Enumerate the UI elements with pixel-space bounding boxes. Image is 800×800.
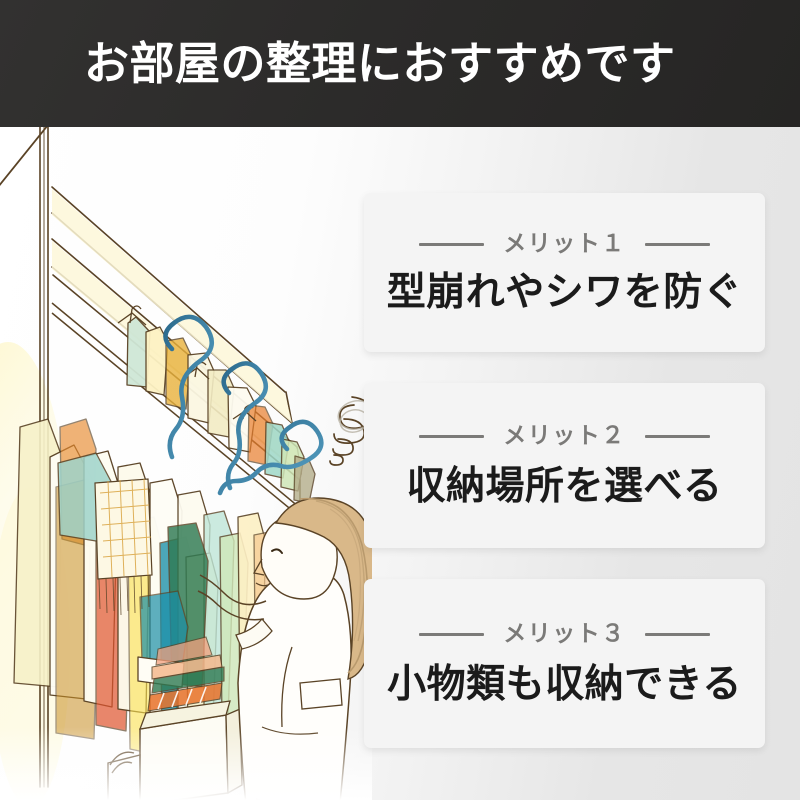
merit-card-list: メリット１ 型崩れやシワを防ぐ メリット２ 収納場所を選べる メリット３	[364, 193, 765, 748]
merit-text-1: 型崩れやシワを防ぐ	[387, 273, 743, 312]
promo-panel: お部屋の整理におすすめです	[0, 0, 800, 800]
merit-rule-right-icon	[645, 633, 710, 636]
merit-card-3[interactable]: メリット３ 小物類も収納できる	[364, 579, 765, 748]
merit-rule-right-icon	[645, 243, 710, 246]
merit-label-row-1: メリット１	[419, 233, 710, 256]
merit-text-2: 収納場所を選べる	[406, 467, 722, 506]
merit-label-2: メリット２	[503, 425, 626, 448]
page-title: お部屋の整理におすすめです	[84, 41, 676, 86]
merit-label-3: メリット３	[503, 623, 626, 646]
merit-label-1: メリット１	[503, 233, 626, 256]
merit-label-row-2: メリット２	[419, 425, 710, 448]
merit-rule-right-icon	[645, 435, 710, 438]
merit-label-row-3: メリット３	[419, 623, 710, 646]
closet-illustration	[0, 127, 372, 800]
merit-rule-left-icon	[419, 243, 484, 246]
header-bar: お部屋の整理におすすめです	[0, 0, 800, 127]
content-area: メリット１ 型崩れやシワを防ぐ メリット２ 収納場所を選べる メリット３	[0, 127, 800, 800]
merit-text-3: 小物類も収納できる	[387, 665, 742, 704]
merit-card-2[interactable]: メリット２ 収納場所を選べる	[364, 383, 765, 548]
merit-card-1[interactable]: メリット１ 型崩れやシワを防ぐ	[364, 193, 765, 352]
merit-rule-left-icon	[419, 435, 484, 438]
merit-rule-left-icon	[419, 633, 484, 636]
